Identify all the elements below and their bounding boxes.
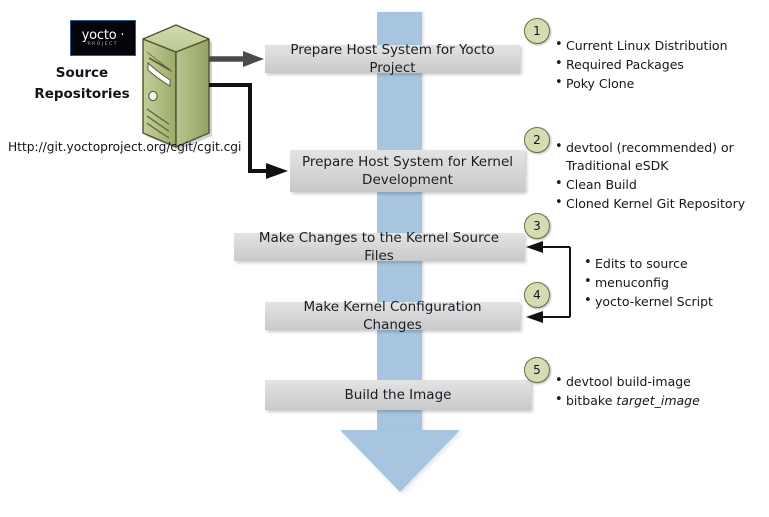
note-item: Cloned Kernel Git Repository [566, 195, 765, 213]
step-number-1: 1 [524, 18, 550, 44]
arrow-server-to-step1 [209, 51, 264, 67]
step-5-notes: devtool build-image bitbake target_image [553, 373, 765, 411]
step-2-notes: devtool (recommended) or Traditional eSD… [553, 139, 765, 214]
note-prefix: bitbake [566, 393, 616, 408]
note-item: devtool build-image [566, 373, 765, 391]
step-number-3: 3 [524, 213, 550, 239]
note-item: yocto-kernel Script [595, 293, 767, 311]
step-box-prepare-host-kernel[interactable]: Prepare Host System for Kernel Developme… [290, 150, 525, 192]
step-1-notes: Current Linux Distribution Required Pack… [553, 37, 765, 94]
step-number-5: 5 [524, 357, 550, 383]
note-item: menuconfig [595, 274, 767, 292]
step-number-2: 2 [524, 127, 550, 153]
note-item: Poky Clone [566, 75, 765, 93]
note-item: Required Packages [566, 56, 765, 74]
note-item: devtool (recommended) or Traditional eSD… [566, 139, 765, 175]
step-box-make-kernel-config-changes[interactable]: Make Kernel Configuration Changes [265, 302, 520, 330]
source-label-line2: Repositories [22, 84, 142, 105]
arrow-server-to-step2 [209, 85, 288, 179]
note-item: Edits to source [595, 255, 767, 273]
note-italic-token: target_image [616, 393, 699, 408]
step-number-4: 4 [524, 282, 550, 308]
diagram-canvas: yocto · PROJECT Source Repositories Http… [0, 0, 769, 517]
note-item: Current Linux Distribution [566, 37, 765, 55]
workflow-spine-arrowhead [340, 430, 460, 492]
source-label-line1: Source [22, 63, 142, 84]
server-tower-icon [143, 25, 212, 150]
step-box-build-the-image[interactable]: Build the Image [265, 380, 531, 410]
yocto-project-logo: yocto · PROJECT [70, 20, 136, 56]
source-repository-url: Http://git.yoctoproject.org/cgit/cgit.cg… [8, 140, 241, 154]
logo-subwordmark: PROJECT [88, 43, 118, 47]
source-repositories-label: Source Repositories [22, 63, 142, 105]
note-item-italic: bitbake target_image [566, 392, 765, 410]
steps-3-4-shared-notes: Edits to source menuconfig yocto-kernel … [582, 255, 767, 312]
note-item: Clean Build [566, 176, 765, 194]
step-box-prepare-host-yocto[interactable]: Prepare Host System for Yocto Project [265, 45, 520, 73]
logo-wordmark: yocto · [82, 29, 125, 42]
step-box-make-kernel-source-changes[interactable]: Make Changes to the Kernel Source Files [234, 233, 524, 261]
